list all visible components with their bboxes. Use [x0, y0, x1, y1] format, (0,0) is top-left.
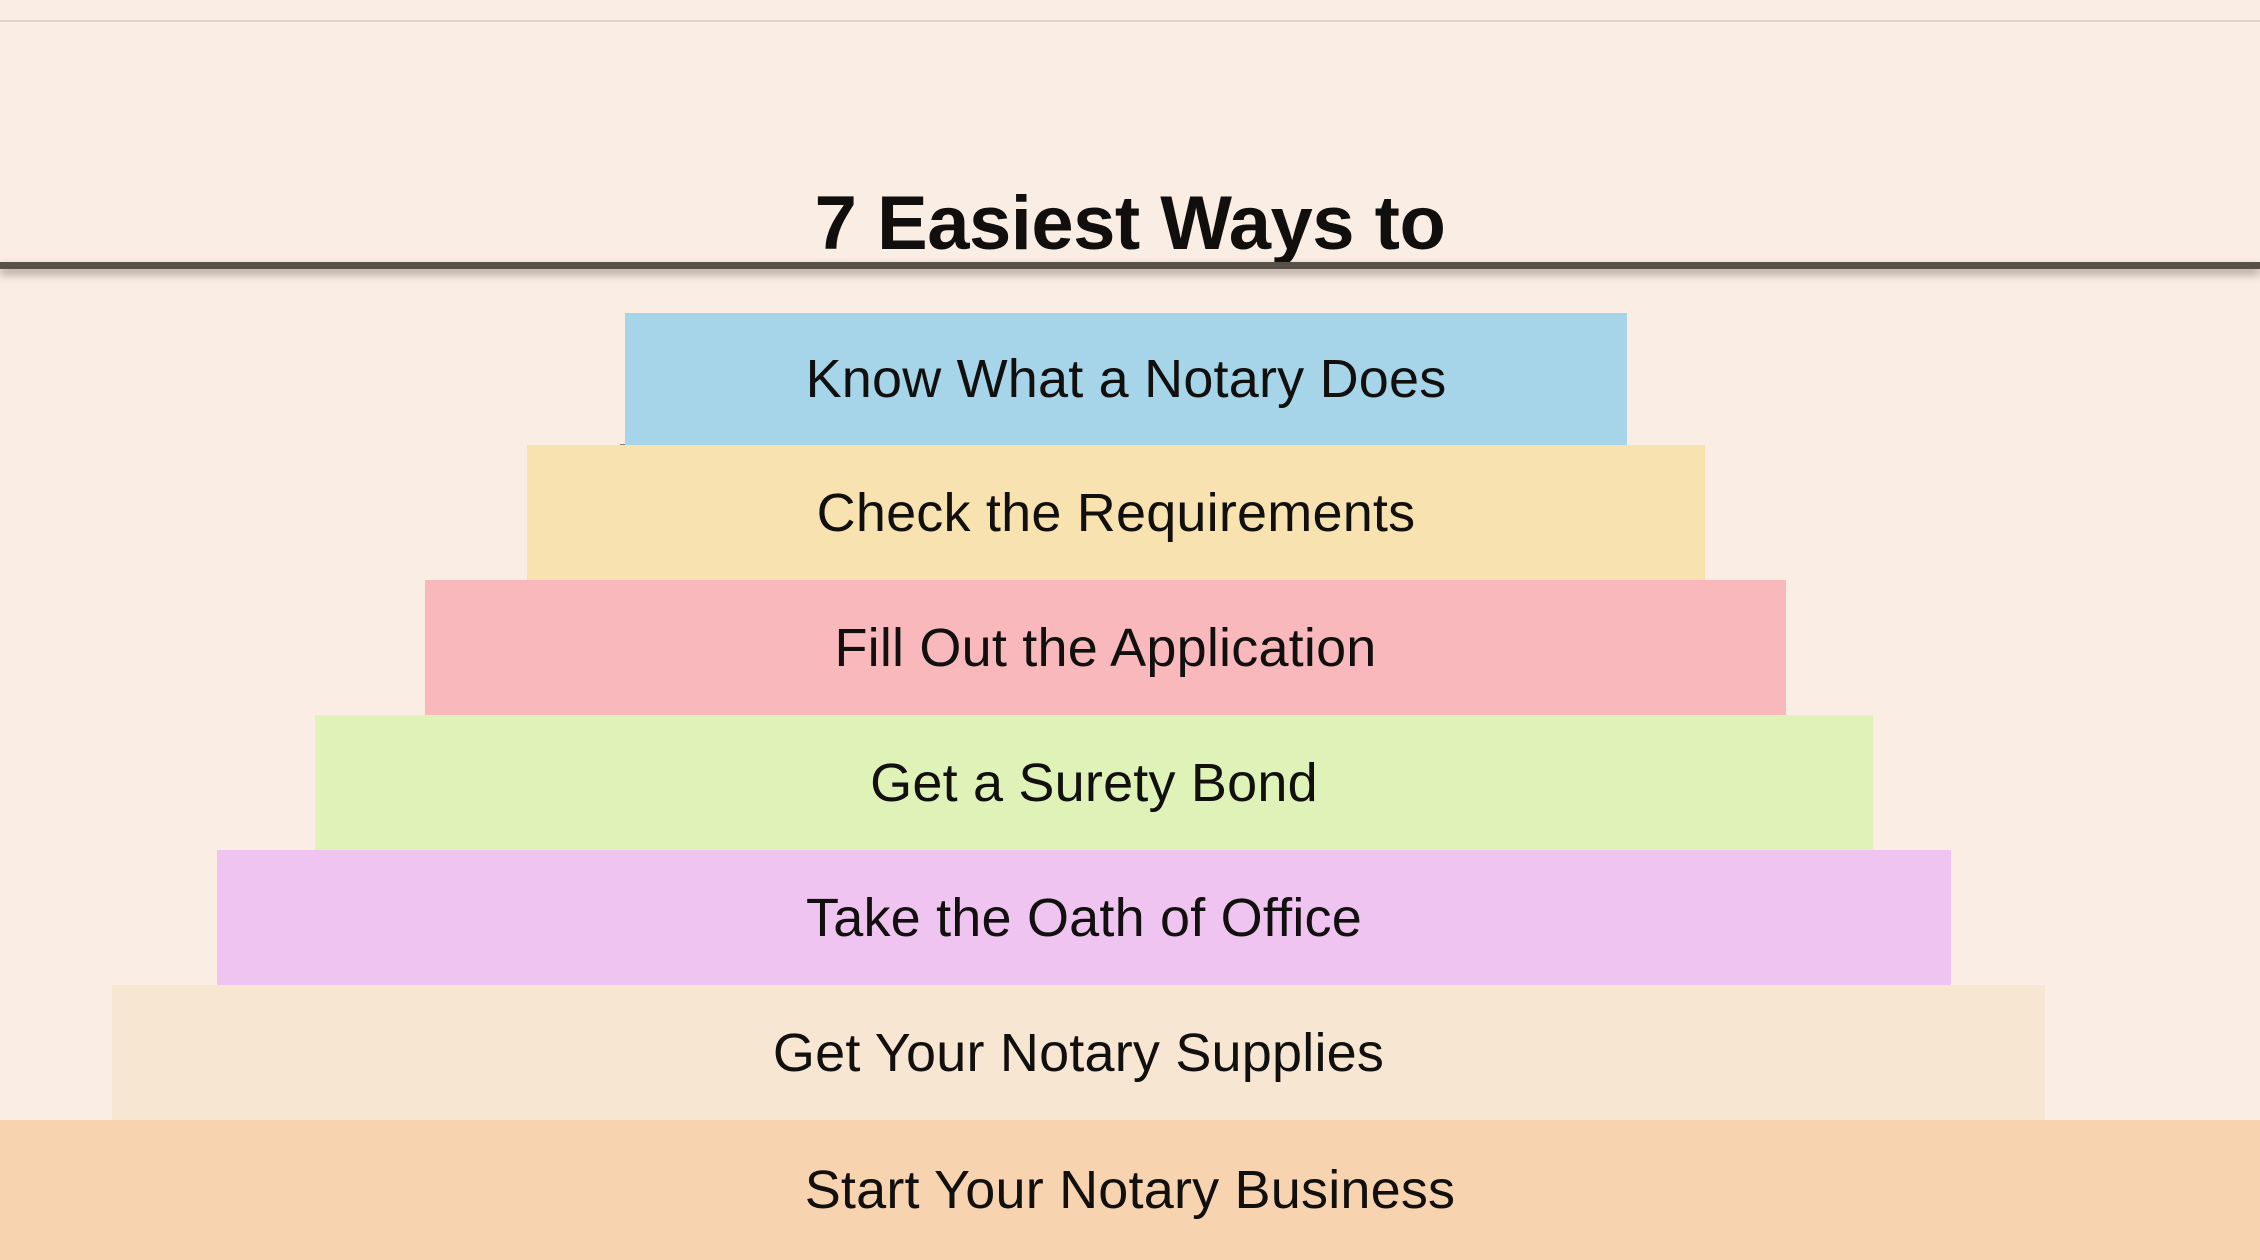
page-title-line-1: 7 Easiest Ways to [0, 186, 2260, 262]
pyramid-step-3: Fill Out the Application [425, 580, 1786, 715]
pyramid-step-2-label: Check the Requirements [817, 486, 1416, 540]
pyramid-step-3-label: Fill Out the Application [834, 621, 1376, 675]
header-band: 7 Easiest Ways to Become a Notary in Mon… [0, 0, 2260, 268]
pyramid-step-7: Start Your Notary Business [0, 1120, 2260, 1260]
pyramid-step-1: Know What a Notary Does [625, 313, 1627, 445]
pyramid-step-5-label: Take the Oath of Office [806, 891, 1362, 945]
header-top-hairline [0, 20, 2260, 22]
pyramid-chart: Know What a Notary Does Check the Requir… [0, 268, 2260, 1260]
pyramid-step-4-label: Get a Surety Bond [870, 756, 1318, 810]
pyramid-step-4: Get a Surety Bond [315, 715, 1873, 850]
pyramid-step-5: Take the Oath of Office [217, 850, 1951, 985]
pyramid-step-7-label: Start Your Notary Business [805, 1163, 1456, 1217]
pyramid-step-6: Get Your Notary Supplies [112, 985, 2045, 1120]
pyramid-step-6-label: Get Your Notary Supplies [773, 1026, 1384, 1080]
pyramid-step-2: Check the Requirements [527, 445, 1705, 580]
infographic-canvas: 7 Easiest Ways to Become a Notary in Mon… [0, 0, 2260, 1260]
pyramid-step-1-label: Know What a Notary Does [806, 352, 1447, 406]
